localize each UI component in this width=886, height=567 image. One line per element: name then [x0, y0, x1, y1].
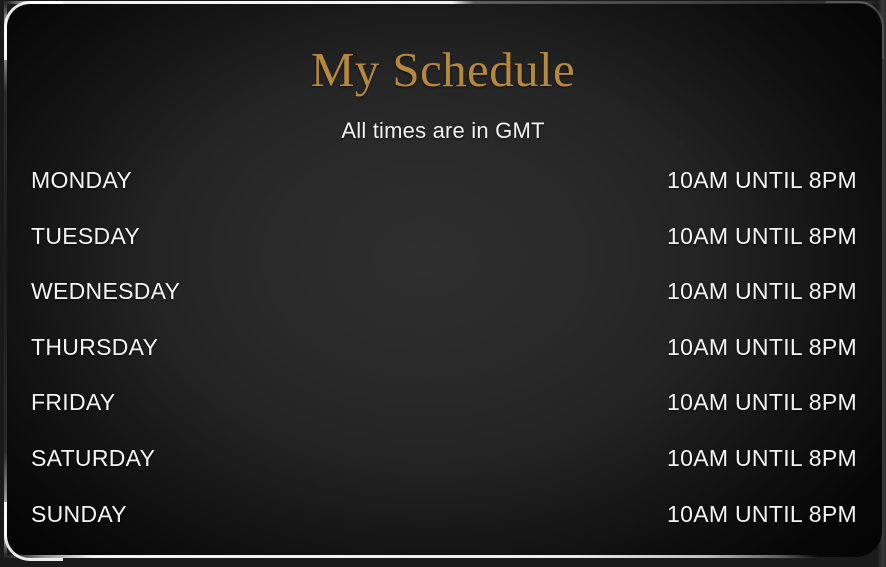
hours-label: 10AM UNTIL 8PM [667, 445, 857, 472]
schedule-row-sunday: SUNDAY 10AM UNTIL 8PM [31, 501, 857, 557]
hours-label: 10AM UNTIL 8PM [667, 334, 857, 361]
day-label: SUNDAY [31, 501, 127, 528]
schedule-row-tuesday: TUESDAY 10AM UNTIL 8PM [31, 223, 857, 279]
card-content: My Schedule All times are in GMT MONDAY … [4, 3, 882, 557]
hours-label: 10AM UNTIL 8PM [667, 167, 857, 194]
hours-label: 10AM UNTIL 8PM [667, 278, 857, 305]
day-label: FRIDAY [31, 389, 115, 416]
day-label: WEDNESDAY [31, 278, 180, 305]
hours-label: 10AM UNTIL 8PM [667, 223, 857, 250]
day-label: TUESDAY [31, 223, 140, 250]
schedule-row-saturday: SATURDAY 10AM UNTIL 8PM [31, 445, 857, 501]
day-label: MONDAY [31, 167, 132, 194]
schedule-row-wednesday: WEDNESDAY 10AM UNTIL 8PM [31, 278, 857, 334]
page-title: My Schedule [4, 41, 882, 99]
schedule-row-friday: FRIDAY 10AM UNTIL 8PM [31, 389, 857, 445]
schedule-list: MONDAY 10AM UNTIL 8PM TUESDAY 10AM UNTIL… [31, 167, 857, 556]
timezone-note: All times are in GMT [4, 116, 882, 146]
schedule-row-monday: MONDAY 10AM UNTIL 8PM [31, 167, 857, 223]
schedule-card: My Schedule All times are in GMT MONDAY … [4, 3, 882, 557]
hours-label: 10AM UNTIL 8PM [667, 501, 857, 528]
schedule-screen: My Schedule All times are in GMT MONDAY … [0, 0, 886, 567]
day-label: SATURDAY [31, 445, 155, 472]
day-label: THURSDAY [31, 334, 158, 361]
hours-label: 10AM UNTIL 8PM [667, 389, 857, 416]
schedule-row-thursday: THURSDAY 10AM UNTIL 8PM [31, 334, 857, 390]
